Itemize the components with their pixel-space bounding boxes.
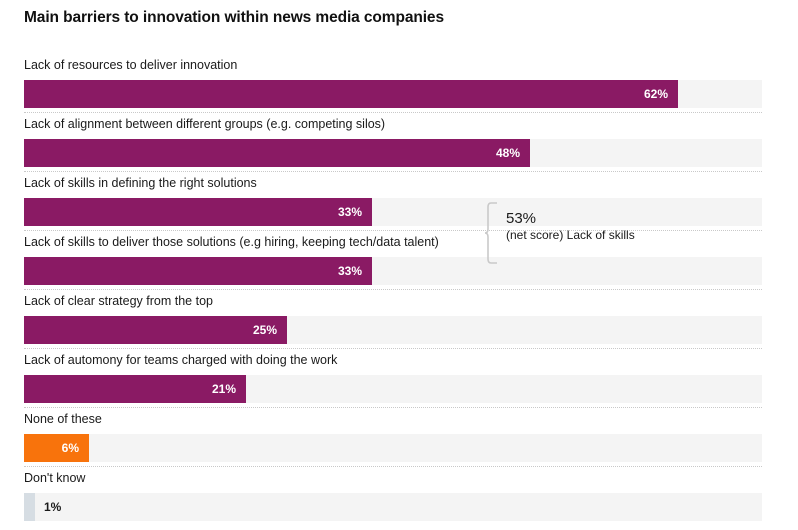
bar-25[interactable]: 25% (24, 316, 287, 344)
row-divider (24, 289, 762, 291)
bar-category-label: Lack of skills to deliver those solution… (24, 235, 439, 249)
bar-value-label: 25% (253, 323, 287, 337)
bar-6[interactable]: 6% (24, 434, 89, 462)
bar-value-label: 33% (338, 264, 372, 278)
net-score-text-group: 53% (net score) Lack of skills (506, 210, 635, 243)
bar-value-label: 48% (496, 146, 530, 160)
chart-container: Main barriers to innovation within news … (0, 0, 798, 527)
bar-category-label: Lack of resources to deliver innovation (24, 58, 237, 72)
bar-value-label: 6% (62, 441, 89, 455)
bar-category-label: Lack of automony for teams charged with … (24, 353, 337, 367)
bar-category-label: Lack of skills in defining the right sol… (24, 176, 257, 190)
page-title: Main barriers to innovation within news … (24, 9, 444, 27)
bar-value-label: 1% (35, 500, 61, 514)
bar-track: 25% (24, 316, 762, 344)
net-score-description: (net score) Lack of skills (506, 228, 635, 243)
net-score-value: 53% (506, 210, 635, 228)
bar-value-label: 62% (644, 87, 678, 101)
table-row: Don't know 1% (0, 471, 798, 530)
table-row: Lack of resources to deliver innovation … (0, 58, 798, 117)
bar-track: 48% (24, 139, 762, 167)
row-divider (24, 466, 762, 468)
bar-62[interactable]: 62% (24, 80, 678, 108)
table-row: None of these 6% (0, 412, 798, 471)
table-row: Lack of alignment between different grou… (0, 117, 798, 176)
row-divider (24, 348, 762, 350)
bar-value-label: 33% (338, 205, 372, 219)
bar-value-label: 21% (212, 382, 246, 396)
bar-rows: Lack of resources to deliver innovation … (0, 58, 798, 530)
row-divider (24, 112, 762, 114)
table-row: Lack of automony for teams charged with … (0, 353, 798, 412)
bar-track: 62% (24, 80, 762, 108)
bar-33-a[interactable]: 33% (24, 198, 372, 226)
row-divider (24, 407, 762, 409)
bar-track: 21% (24, 375, 762, 403)
bar-33-b[interactable]: 33% (24, 257, 372, 285)
bar-category-label: Lack of clear strategy from the top (24, 294, 213, 308)
bar-track: 1% (24, 493, 762, 521)
bar-category-label: None of these (24, 412, 102, 426)
bar-1[interactable]: 1% (24, 493, 35, 521)
bar-track: 6% (24, 434, 762, 462)
bar-21[interactable]: 21% (24, 375, 246, 403)
bar-48[interactable]: 48% (24, 139, 530, 167)
table-row: Lack of clear strategy from the top 25% (0, 294, 798, 353)
row-divider (24, 171, 762, 173)
curly-brace-icon (484, 201, 504, 271)
bar-category-label: Lack of alignment between different grou… (24, 117, 385, 131)
net-score-annotation: 53% (net score) Lack of skills (484, 201, 784, 271)
bar-category-label: Don't know (24, 471, 85, 485)
